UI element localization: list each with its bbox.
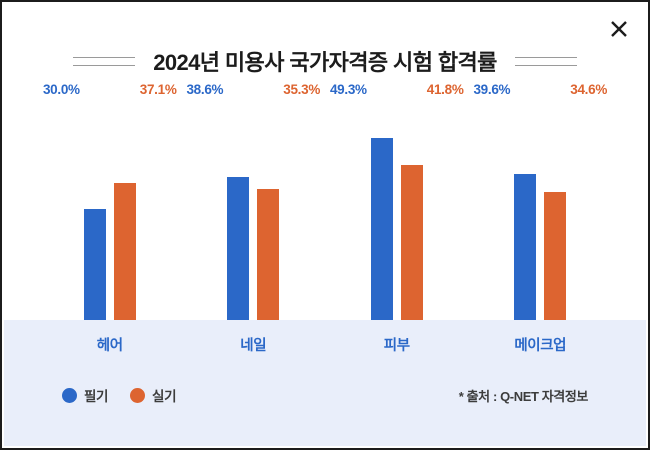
source-note: * 출처 : Q-NET 자격정보 [459,386,588,405]
bar[interactable] [544,192,566,320]
bar[interactable] [114,183,136,320]
category-label: 헤어 [38,334,182,358]
bar[interactable] [371,138,393,320]
legend-dot-icon [62,388,77,403]
chart-plot-area: 30.0%37.1%38.6%35.3%49.3%41.8%39.6%34.6% [4,98,646,320]
chart-lower-band: 헤어네일피부메이크업 필기실기 * 출처 : Q-NET 자격정보 [4,320,646,446]
bar[interactable] [257,189,279,320]
bar-value-label: 49.3% [330,82,367,97]
bar-value-label: 39.6% [473,82,510,97]
bar-value-label: 38.6% [186,82,223,97]
bar[interactable] [514,174,536,321]
category-label: 피부 [325,334,469,358]
legend-item[interactable]: 실기 [130,385,176,405]
chart-legend: 필기실기 [62,385,176,405]
bar-group: 49.3%41.8% [325,98,469,320]
title-rule-right-icon [515,57,577,66]
bar[interactable] [84,209,106,320]
bar-wrap: 37.1% [114,98,136,320]
bar-value-label: 34.6% [570,82,607,97]
bar-wrap: 34.6% [544,98,566,320]
bar-value-label: 35.3% [283,82,320,97]
close-icon[interactable] [606,16,632,42]
title-rule-left-icon [73,57,135,66]
category-axis: 헤어네일피부메이크업 [4,334,646,358]
legend-item[interactable]: 필기 [62,385,108,405]
bar-value-label: 37.1% [140,82,177,97]
category-label: 네일 [182,334,326,358]
bar-group: 30.0%37.1% [38,98,182,320]
bar-group: 38.6%35.3% [182,98,326,320]
chart-title-row: 2024년 미용사 국가자격증 시험 합격률 [2,44,648,78]
bar-value-label: 41.8% [427,82,464,97]
bar-wrap: 30.0% [84,98,106,320]
legend-dot-icon [130,388,145,403]
bar-wrap: 49.3% [371,98,393,320]
infographic-card: 2024년 미용사 국가자격증 시험 합격률 30.0%37.1%38.6%35… [0,0,650,450]
bar[interactable] [227,177,249,320]
bar[interactable] [401,165,423,320]
category-label: 메이크업 [469,334,613,358]
bar-wrap: 41.8% [401,98,423,320]
bar-wrap: 38.6% [227,98,249,320]
legend-label: 필기 [84,385,108,405]
legend-label: 실기 [152,385,176,405]
bar-value-label: 30.0% [43,82,80,97]
page-title: 2024년 미용사 국가자격증 시험 합격률 [153,45,497,77]
bar-wrap: 39.6% [514,98,536,320]
chart-footer: 필기실기 * 출처 : Q-NET 자격정보 [4,382,646,408]
bar-wrap: 35.3% [257,98,279,320]
bar-group: 39.6%34.6% [469,98,613,320]
